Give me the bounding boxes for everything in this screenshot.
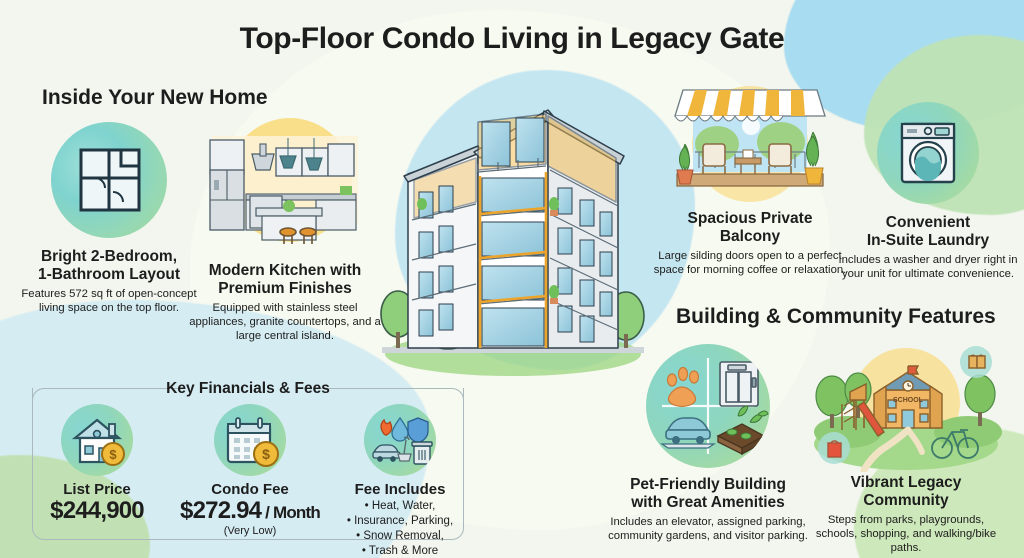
feature-amenities-body: Includes an elevator, assigned parking, … [608,515,808,543]
feature-laundry-body: Includes a washer and dryer right in you… [838,253,1018,281]
house-dollar-icon: $ [61,404,133,476]
feature-floorplan-heading: Bright 2-Bedroom, 1-Bathroom Layout [14,248,204,284]
page-title: Top-Floor Condo Living in Legacy Gate [0,22,1024,56]
feature-balcony-body: Large silding doors open to a perfect sp… [650,249,850,277]
fee-includes-item: • Trash & More [330,544,470,558]
condo-fee-label: Condo Fee [176,481,324,498]
infographic-canvas: Top-Floor Condo Living in Legacy Gate In… [0,0,1024,558]
fee-includes-label: Fee Includes [330,481,470,498]
section-heading-inside: Inside Your New Home [42,86,268,110]
svg-text:$: $ [262,446,270,462]
balcony-icon [655,82,845,202]
condo-fee-amount: $272.94 [180,497,261,524]
feature-kitchen: Modern Kitchen with Premium Finishes Equ… [185,108,385,344]
fee-includes-item: • Heat, Water, [330,499,470,514]
condo-fee-unit: / Month [261,503,320,522]
feature-balcony: Spacious Private Balcony Large silding d… [650,82,850,277]
washing-machine-icon [877,102,979,204]
financial-condo-fee: $ Condo Fee $272.94 / Month (Very Low) [176,404,324,537]
list-price-value: $244,900 [38,498,156,524]
section-heading-community: Building & Community Features [676,305,996,329]
kitchen-icon [190,108,380,248]
school-sign-label: SCHOOL [893,397,924,404]
floor-plan-icon [51,122,167,238]
financial-fee-includes: Fee Includes • Heat, Water, • Insurance,… [330,404,470,558]
feature-laundry-heading: Convenient In-Suite Laundry [838,214,1018,250]
condo-fee-value: $272.94 / Month [176,498,324,524]
key-financials-title: Key Financials & Fees [156,380,340,398]
feature-kitchen-body: Equipped with stainless steel appliances… [185,301,385,343]
amenities-quad-icon [646,344,770,468]
condo-fee-note: (Very Low) [176,525,324,537]
feature-balcony-heading: Spacious Private Balcony [650,210,850,246]
feature-floorplan-body: Features 572 sq ft of open-concept livin… [14,287,204,315]
fee-includes-list: • Heat, Water, • Insurance, Parking, • S… [330,499,470,558]
feature-amenities: Pet-Friendly Building with Great Ameniti… [608,344,808,543]
financial-list-price: $ List Price $244,900 [38,404,156,524]
feature-laundry: Convenient In-Suite Laundry Includes a w… [838,102,1018,281]
condo-building-illustration [378,92,648,377]
fee-includes-item: • Insurance, Parking, [330,514,470,529]
list-price-label: List Price [38,481,156,498]
fee-includes-item: • Snow Removal, [330,529,470,544]
svg-text:$: $ [109,447,117,462]
calendar-dollar-icon: $ [214,404,286,476]
feature-floorplan: Bright 2-Bedroom, 1-Bathroom Layout Feat… [14,122,204,315]
feature-amenities-heading: Pet-Friendly Building with Great Ameniti… [608,476,808,512]
feature-kitchen-heading: Modern Kitchen with Premium Finishes [185,262,385,298]
feature-community: SCHOOL [806,344,1006,556]
neighborhood-icon: SCHOOL [808,344,1004,472]
feature-community-heading: Vibrant Legacy Community [806,474,1006,510]
feature-community-body: Steps from parks, playgrounds, schools, … [806,513,1006,555]
utilities-icon [364,404,436,476]
